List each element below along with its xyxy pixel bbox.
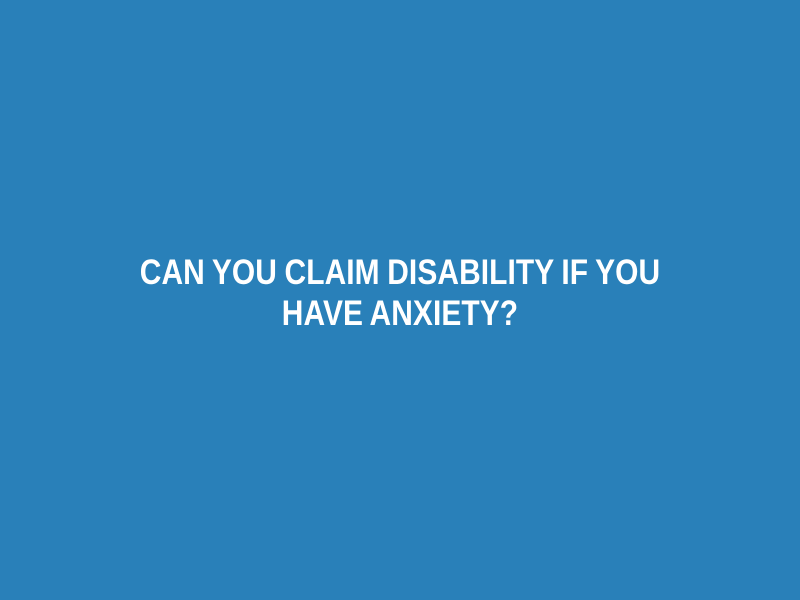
title-block: CAN YOU CLAIM DISABILITY IF YOU HAVE ANX… xyxy=(0,252,800,334)
hero-banner: CAN YOU CLAIM DISABILITY IF YOU HAVE ANX… xyxy=(0,0,800,600)
page-title: CAN YOU CLAIM DISABILITY IF YOU HAVE ANX… xyxy=(109,252,690,334)
